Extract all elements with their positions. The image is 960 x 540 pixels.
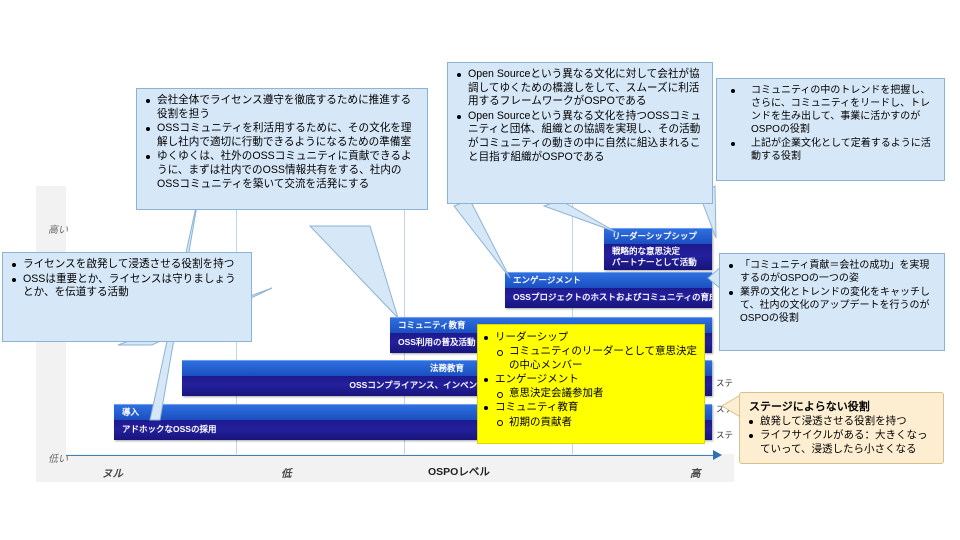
y-axis-high-label: 高い <box>48 221 68 236</box>
stage-bar-engagement-desc: OSSプロジェクトのホストおよびコミュニティの育成 <box>505 288 712 308</box>
callout-top-left-item-1: OSSコミュニティを利活用するために、その文化を理解し社内で適切に行動できるよう… <box>144 122 420 149</box>
callout-top-middle-list: Open Sourceという異なる文化に対して会社が協調してゆくための橋渡しをし… <box>455 68 705 164</box>
callout-top-right-item-1: 上記が企業文化として定着するように活動する役割 <box>729 137 937 163</box>
y-axis-low-label: 低い <box>48 450 68 465</box>
callout-top-left-item-0: 会社全体でライセンス遵守を徹底するために推進する役割を担う <box>144 94 420 121</box>
callout-top-left[interactable]: 会社全体でライセンス遵守を徹底するために推進する役割を担う OSSコミュニティを… <box>136 88 428 210</box>
x-axis-line <box>66 455 716 456</box>
callout-top-left-list: 会社全体でライセンス遵守を徹底するために推進する役割を担う OSSコミュニティを… <box>144 94 420 191</box>
stage-bar-leadership-desc: 戦略的な意思決定 パートナーとして活動 <box>604 244 712 270</box>
yellow-item-2: エンゲージメント <box>482 373 698 386</box>
callout-right-middle-item-0: 「コミュニティ貢献＝会社の成功」を実現するのがOSPOの一つの姿 <box>727 259 937 285</box>
callout-left-item-0: ライセンスを啟発して浸透させる役割を持つ <box>10 258 244 272</box>
callout-bottom-right-title: ステージによらない役割 <box>749 398 936 414</box>
x-axis-title: OSPOレベル <box>428 464 490 479</box>
callout-yellow-overlay[interactable]: リーダーシップ コミュニティのリーダーとして意思決定の中心メンバー エンゲージメ… <box>477 324 705 444</box>
x-tick-low: 低 <box>281 466 292 481</box>
callout-bottom-right[interactable]: ステージによらない役割 啟発して浸透させる役割を持つ ライフサイクルがある：大き… <box>739 392 944 464</box>
callout-bottom-right-item-0: 啟発して浸透させる役割を持つ <box>747 415 936 428</box>
callout-left-list: ライセンスを啟発して浸透させる役割を持つ OSSは重要とか、ライセンスは守りまし… <box>10 258 244 300</box>
callout-left[interactable]: ライセンスを啟発して浸透させる役割を持つ OSSは重要とか、ライセンスは守りまし… <box>2 252 252 342</box>
side-label-1: ステ <box>716 377 733 389</box>
x-axis-arrow <box>713 450 722 460</box>
callout-yellow-list: リーダーシップ コミュニティのリーダーとして意思決定の中心メンバー エンゲージメ… <box>482 331 698 429</box>
callout-top-right-list: コミュニティの中のトレンドを把握し、さらに、コミュニティをリードし、トレンドを生… <box>729 84 937 163</box>
yellow-item-0: リーダーシップ <box>482 331 698 344</box>
callout-right-middle-item-1: 業界の文化とトレンドの変化をキャッチして、社内の文化のアップデートを行うのがOS… <box>727 286 937 325</box>
yellow-item-1: コミュニティのリーダーとして意思決定の中心メンバー <box>482 345 698 372</box>
x-tick-null: ヌル <box>102 466 123 481</box>
callout-bottom-right-list: 啟発して浸透させる役割を持つ ライフサイクルがある：大きくなっていって、浸透した… <box>747 415 936 456</box>
slide-canvas: 高い 低い ヌル 低 高 OSPOレベル ステ ステ ステ 導入 アドホックなO… <box>0 0 960 540</box>
stage-bar-engagement-title: エンゲージメント <box>505 272 712 288</box>
callout-bottom-right-item-1: ライフサイクルがある：大きくなっていって、浸透したら小さくなる <box>747 429 936 456</box>
x-tick-high: 高 <box>690 466 701 481</box>
callout-top-right[interactable]: コミュニティの中のトレンドを把握し、さらに、コミュニティをリードし、トレンドを生… <box>716 78 945 181</box>
stage-bar-leadership-title: リーダーシップシップ <box>604 228 712 244</box>
callout-right-middle[interactable]: 「コミュニティ貢献＝会社の成功」を実現するのがOSPOの一つの姿 業界の文化とト… <box>719 253 945 351</box>
callout-top-middle[interactable]: Open Sourceという異なる文化に対して会社が協調してゆくための橋渡しをし… <box>447 62 713 204</box>
callout-right-middle-list: 「コミュニティ貢献＝会社の成功」を実現するのがOSPOの一つの姿 業界の文化とト… <box>727 259 937 325</box>
callout-top-right-item-0: コミュニティの中のトレンドを把握し、さらに、コミュニティをリードし、トレンドを生… <box>729 84 937 136</box>
side-label-3: ステ <box>716 429 733 441</box>
yellow-item-5: 初期の貢献者 <box>482 416 698 429</box>
side-label-2: ステ <box>716 403 733 415</box>
yellow-item-3: 意思決定会議参加者 <box>482 387 698 400</box>
callout-top-middle-item-0: Open Sourceという異なる文化に対して会社が協調してゆくための橋渡しをし… <box>455 68 705 109</box>
callout-left-item-1: OSSは重要とか、ライセンスは守りましょうとか、を伝道する活動 <box>10 273 244 300</box>
yellow-item-4: コミュニティ教育 <box>482 401 698 414</box>
stage-bar-engagement[interactable]: エンゲージメント OSSプロジェクトのホストおよびコミュニティの育成 <box>505 272 712 308</box>
callout-top-middle-item-1: Open Sourceという異なる文化を持つOSSコミュニティと団体、組織との協… <box>455 110 705 164</box>
callout-top-left-item-2: ゆくゆくは、社外のOSSコミュニティに貢献できるように、まずは社内でのOSS情報… <box>144 150 420 191</box>
stage-bar-leadership[interactable]: リーダーシップシップ 戦略的な意思決定 パートナーとして活動 <box>604 228 712 270</box>
